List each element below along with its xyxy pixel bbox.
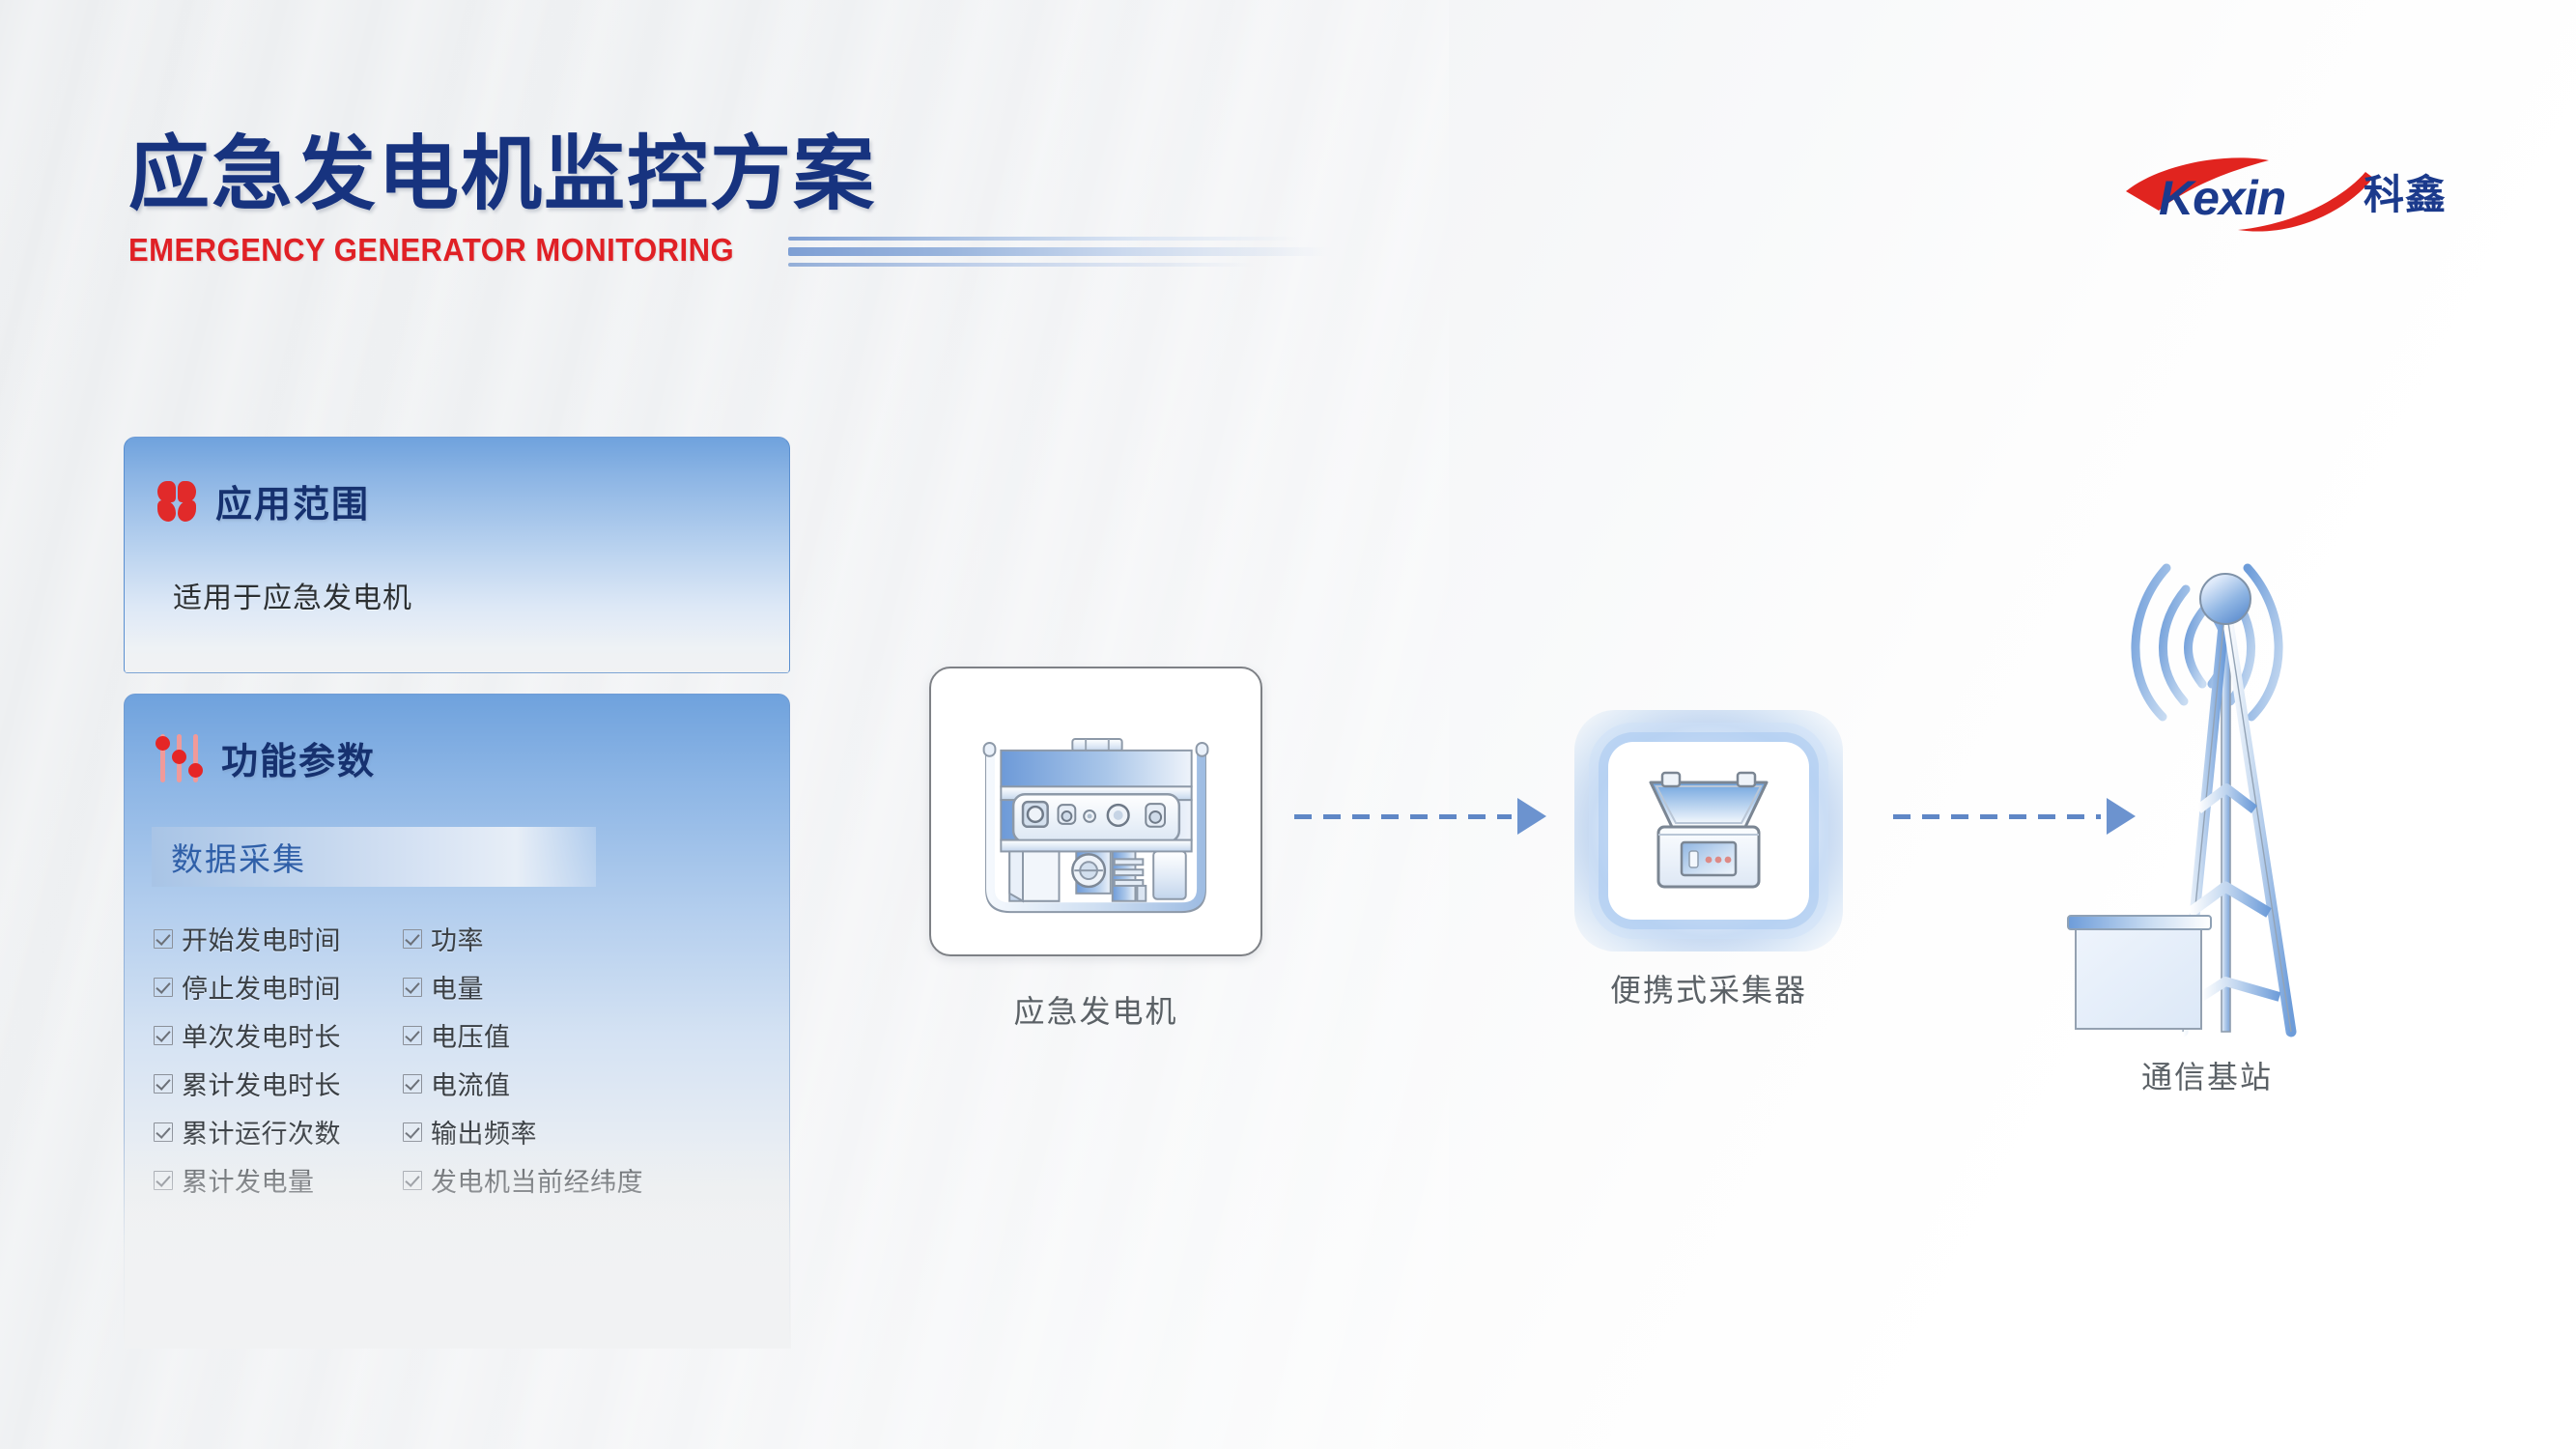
checkbox-icon[interactable]	[154, 929, 173, 949]
sliders-icon	[157, 734, 202, 782]
parameter-checklist: 开始发电时间 功率 停止发电时间 电量 单次发电时长 电压值 累计发电时长 电流…	[154, 920, 789, 1199]
checklist-item-label: 电流值	[431, 1065, 511, 1102]
node-generator-card	[929, 667, 1262, 956]
decorative-lines	[788, 234, 1329, 267]
checkbox-icon[interactable]	[403, 1171, 422, 1190]
node-base-station	[2062, 502, 2352, 1043]
node-label-base-station: 通信基站	[2062, 1053, 2352, 1097]
node-label-generator: 应急发电机	[929, 987, 1262, 1032]
checklist-item-label: 累计运行次数	[182, 1113, 341, 1151]
checklist-item-label: 累计发电时长	[182, 1065, 341, 1102]
arrow-generator-to-collector	[1294, 802, 1546, 831]
checklist-item-label: 发电机当前经纬度	[431, 1161, 643, 1199]
svg-text:科鑫: 科鑫	[2364, 171, 2447, 218]
checklist-item[interactable]: 单次发电时长	[154, 1016, 385, 1054]
checklist-item[interactable]: 发电机当前经纬度	[403, 1161, 789, 1199]
subheading-label: 数据采集	[171, 834, 306, 880]
checklist-item[interactable]: 开始发电时间	[154, 920, 385, 957]
checkbox-icon[interactable]	[403, 1026, 422, 1045]
checklist-item[interactable]: 电流值	[403, 1065, 789, 1102]
checklist-item[interactable]: 累计运行次数	[154, 1113, 385, 1151]
card-body-text: 适用于应急发电机	[125, 527, 789, 616]
arrow-head-icon	[1517, 798, 1546, 835]
node-label-collector: 便携式采集器	[1574, 966, 1843, 1010]
checkbox-icon[interactable]	[403, 978, 422, 997]
clover-icon	[157, 481, 196, 522]
card-application-scope: 应用范围 适用于应急发电机	[124, 437, 790, 673]
checklist-item-label: 电压值	[431, 1016, 511, 1054]
checklist-item[interactable]: 输出频率	[403, 1113, 789, 1151]
node-collector-card	[1608, 742, 1809, 920]
card-title: 应用范围	[215, 474, 370, 527]
checklist-item[interactable]: 电压值	[403, 1016, 789, 1054]
checklist-item[interactable]: 功率	[403, 920, 789, 957]
cell-tower-icon	[2062, 502, 2352, 1043]
checklist-item-label: 输出频率	[431, 1113, 537, 1151]
card-title: 功能参数	[221, 731, 376, 784]
card-function-parameters: 功能参数 数据采集 开始发电时间 功率 停止发电时间 电量 单次发电时长 电压值…	[124, 694, 790, 1349]
checkbox-icon[interactable]	[403, 1074, 422, 1094]
checkbox-icon[interactable]	[403, 1122, 422, 1142]
portable-data-collector-icon	[1608, 742, 1809, 920]
subtitle-row: EMERGENCY GENERATOR MONITORING	[128, 232, 2447, 269]
checkbox-icon[interactable]	[154, 1074, 173, 1094]
page-title: 应急发电机监控方案	[128, 130, 2447, 218]
checkbox-icon[interactable]	[154, 978, 173, 997]
svg-text:Kexin: Kexin	[2159, 171, 2285, 225]
checklist-item[interactable]: 电量	[403, 968, 789, 1006]
card-header: 功能参数	[125, 695, 789, 784]
page-subtitle: EMERGENCY GENERATOR MONITORING	[128, 232, 734, 269]
portable-generator-icon	[931, 668, 1260, 954]
checkbox-icon[interactable]	[403, 929, 422, 949]
checklist-item-label: 功率	[431, 920, 484, 957]
arrow-dashed-line	[1294, 814, 1512, 819]
brand-logo: Kexin 科鑫	[2124, 155, 2452, 238]
checklist-item[interactable]: 累计发电量	[154, 1161, 385, 1199]
checkbox-icon[interactable]	[154, 1171, 173, 1190]
checklist-item-label: 累计发电量	[182, 1161, 315, 1199]
checklist-item-label: 单次发电时长	[182, 1016, 341, 1054]
card-header: 应用范围	[125, 438, 789, 527]
page-header: 应急发电机监控方案 EMERGENCY GENERATOR MONITORING	[128, 130, 2447, 269]
checklist-item[interactable]: 停止发电时间	[154, 968, 385, 1006]
subheading-data-collection: 数据采集	[152, 827, 596, 887]
checkbox-icon[interactable]	[154, 1122, 173, 1142]
checklist-item-label: 停止发电时间	[182, 968, 341, 1006]
checklist-item-label: 开始发电时间	[182, 920, 341, 957]
checklist-item[interactable]: 累计发电时长	[154, 1065, 385, 1102]
checklist-item-label: 电量	[431, 968, 484, 1006]
checkbox-icon[interactable]	[154, 1026, 173, 1045]
